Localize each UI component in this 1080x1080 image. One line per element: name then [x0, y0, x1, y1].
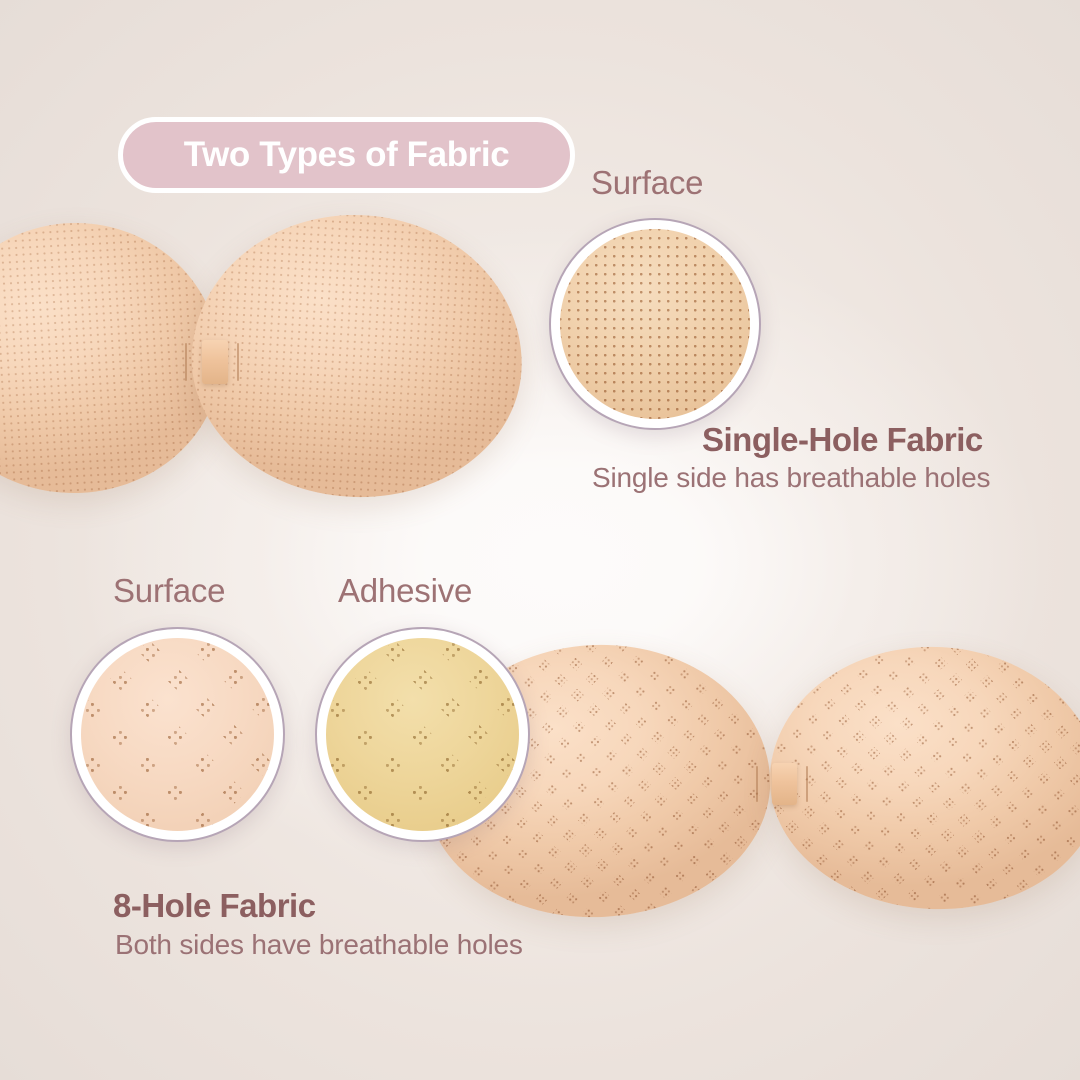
- title-badge-label: Two Types of Fabric: [184, 135, 510, 175]
- swatch-single-hole-surface[interactable]: [549, 218, 761, 430]
- bra-center-clasp: [772, 763, 797, 805]
- swatch-label-eight-hole-surface: Surface: [113, 572, 225, 610]
- fabric-texture-eight-hole: [763, 639, 1080, 918]
- clasp-stitch-line: [185, 343, 187, 381]
- product-image-single-hole: [0, 215, 630, 500]
- bra-cup-right: [763, 639, 1080, 918]
- fabric-swatch-texture: [326, 638, 519, 831]
- fabric-swatch-texture: [560, 229, 750, 419]
- heading-single-hole-fabric: Single-Hole Fabric: [702, 421, 983, 459]
- clasp-stitch-line: [756, 766, 758, 802]
- heading-eight-hole-fabric: 8-Hole Fabric: [113, 887, 316, 925]
- product-image-eight-hole: [425, 645, 1080, 920]
- subtitle-eight-hole-fabric: Both sides have breathable holes: [115, 929, 523, 961]
- fabric-texture-single-hole: [0, 216, 227, 501]
- bra-cup-left: [0, 216, 227, 501]
- title-badge: Two Types of Fabric: [118, 117, 575, 193]
- clasp-stitch-line: [806, 766, 808, 802]
- swatch-label-single-hole-surface: Surface: [591, 164, 703, 202]
- bra-cup-right: [185, 207, 529, 506]
- clasp-stitch-line: [237, 343, 239, 381]
- fabric-swatch-texture: [81, 638, 274, 831]
- swatch-eight-hole-adhesive[interactable]: [315, 627, 530, 842]
- swatch-eight-hole-surface[interactable]: [70, 627, 285, 842]
- infographic-canvas: Two Types of Fabric Surface Single-Hole …: [0, 0, 1080, 1080]
- fabric-texture-single-hole: [185, 207, 529, 506]
- swatch-label-eight-hole-adhesive: Adhesive: [338, 572, 472, 610]
- bra-center-clasp: [202, 340, 228, 384]
- subtitle-single-hole-fabric: Single side has breathable holes: [592, 462, 990, 494]
